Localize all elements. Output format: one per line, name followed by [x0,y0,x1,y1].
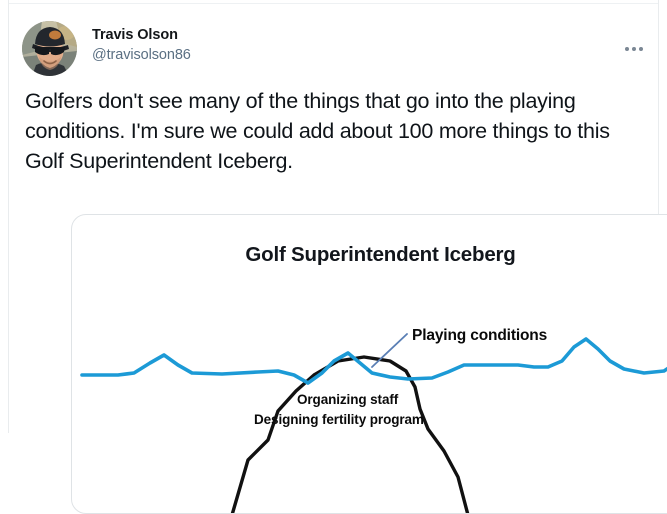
iceberg-svg [72,215,667,514]
dot-1 [625,47,629,51]
display-name[interactable]: Travis Olson [92,26,492,45]
label-playing-conditions: Playing conditions [412,327,547,345]
tweet-header: Travis Olson @travisolson86 [9,12,658,72]
iceberg-diagram: Playing conditions Organizing staff Desi… [72,215,667,514]
media-card[interactable]: Golf Superintendent Iceberg Playing cond… [71,214,667,514]
dot-2 [632,47,636,51]
label-fertility-program: Designing fertility program [254,412,424,427]
tweet-card[interactable]: Travis Olson @travisolson86 Golfers don'… [9,4,658,433]
iceberg-outline [232,357,468,514]
user-handle[interactable]: @travisolson86 [92,45,492,66]
water-line [82,339,667,383]
page-frame: Travis Olson @travisolson86 Golfers don'… [0,0,667,433]
identity-block[interactable]: Travis Olson @travisolson86 [92,26,492,66]
avatar-photo [22,21,77,76]
label-organizing-staff: Organizing staff [297,392,398,407]
dot-3 [639,47,643,51]
tweet-text: Golfers don't see many of the things tha… [25,86,625,176]
ellipsis-horizontal-icon[interactable] [617,38,651,60]
avatar[interactable] [22,21,77,76]
